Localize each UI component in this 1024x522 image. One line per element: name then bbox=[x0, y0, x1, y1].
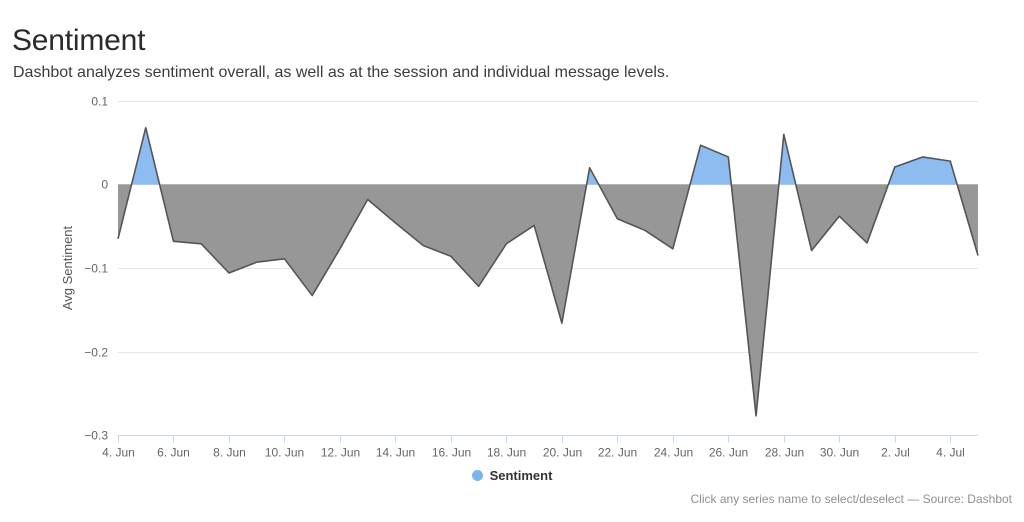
x-tick-label: 18. Jun bbox=[487, 446, 526, 460]
plot-series bbox=[118, 128, 978, 416]
y-axis-title: Avg Sentiment bbox=[60, 225, 75, 310]
x-tick-label: 6. Jun bbox=[157, 446, 190, 460]
sentiment-chart[interactable]: 0.10−0.1−0.2−0.34. Jun6. Jun8. Jun10. Ju… bbox=[0, 80, 1024, 470]
area-fill-positive bbox=[690, 145, 731, 184]
chart-canvas[interactable]: 0.10−0.1−0.2−0.34. Jun6. Jun8. Jun10. Ju… bbox=[0, 80, 1024, 470]
chart-legend[interactable]: Sentiment bbox=[0, 468, 1024, 490]
page-title: Sentiment bbox=[12, 22, 145, 60]
x-tick-label: 8. Jun bbox=[213, 446, 246, 460]
chart-footer-note: Click any series name to select/deselect… bbox=[691, 492, 1012, 506]
x-tick-label: 10. Jun bbox=[265, 446, 304, 460]
x-tick-label: 2. Jul bbox=[881, 446, 910, 460]
y-tick-label: −0.2 bbox=[84, 346, 108, 360]
area-fill-negative bbox=[160, 185, 587, 324]
legend-marker-icon bbox=[472, 470, 483, 481]
area-fill-positive bbox=[132, 128, 160, 185]
x-tick-label: 4. Jul bbox=[936, 446, 965, 460]
x-tick-label: 16. Jun bbox=[432, 446, 471, 460]
x-tick-label: 26. Jun bbox=[709, 446, 748, 460]
x-tick-label: 30. Jun bbox=[820, 446, 859, 460]
legend-item-label: Sentiment bbox=[490, 468, 553, 483]
x-tick-label: 22. Jun bbox=[598, 446, 637, 460]
y-tick-label: 0.1 bbox=[91, 95, 108, 109]
axes: 0.10−0.1−0.2−0.34. Jun6. Jun8. Jun10. Ju… bbox=[60, 95, 978, 460]
area-fill-negative bbox=[731, 185, 779, 416]
x-tick-label: 14. Jun bbox=[376, 446, 415, 460]
area-fill-negative bbox=[599, 185, 690, 249]
x-tick-label: 28. Jun bbox=[765, 446, 804, 460]
x-tick-label: 24. Jun bbox=[654, 446, 693, 460]
x-tick-label: 4. Jun bbox=[102, 446, 135, 460]
y-tick-label: 0 bbox=[101, 178, 108, 192]
x-tick-label: 20. Jun bbox=[543, 446, 582, 460]
series-line-sentiment bbox=[118, 128, 978, 416]
y-tick-label: −0.1 bbox=[84, 262, 108, 276]
legend-item-sentiment[interactable]: Sentiment bbox=[472, 468, 553, 483]
x-tick-label: 12. Jun bbox=[321, 446, 360, 460]
y-tick-label: −0.3 bbox=[84, 429, 108, 443]
sentiment-page: Sentiment Dashbot analyzes sentiment ove… bbox=[0, 0, 1024, 522]
